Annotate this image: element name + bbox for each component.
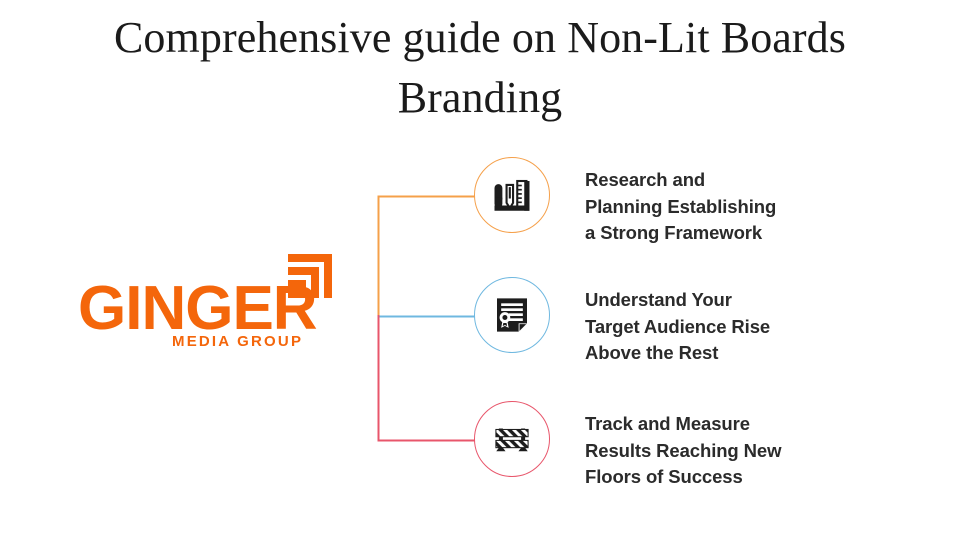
list-item[interactable]: Research and Planning Establishing a Str… (474, 157, 874, 235)
brand-logo: GINGER MEDIA GROUP (78, 250, 338, 360)
item-1-line-2: Planning Establishing (585, 196, 776, 217)
list-item-label: Research and Planning Establishing a Str… (585, 167, 875, 247)
certificate-document-icon (474, 277, 550, 353)
list-item[interactable]: Track and Measure Results Reaching New F… (474, 401, 874, 479)
road-barricade-icon (474, 401, 550, 477)
item-1-line-1: Research and (585, 169, 705, 190)
item-3-line-1: Track and Measure (585, 413, 750, 434)
title-line-1: Comprehensive guide on Non-Lit Boards (0, 8, 960, 68)
item-2-line-2: Target Audience Rise (585, 316, 770, 337)
list-item-label: Track and Measure Results Reaching New F… (585, 411, 875, 491)
stationery-tools-icon (474, 157, 550, 233)
logo-tagline: MEDIA GROUP (172, 334, 303, 350)
item-3-line-2: Results Reaching New (585, 440, 781, 461)
page-title: Comprehensive guide on Non-Lit Boards Br… (0, 8, 960, 128)
list-item[interactable]: Understand Your Target Audience Rise Abo… (474, 277, 874, 355)
title-line-2: Branding (0, 68, 960, 128)
logo-wordmark: GINGER (78, 278, 317, 340)
item-2-line-1: Understand Your (585, 289, 732, 310)
item-1-line-3: a Strong Framework (585, 222, 762, 243)
item-2-line-3: Above the Rest (585, 342, 718, 363)
list-item-label: Understand Your Target Audience Rise Abo… (585, 287, 875, 367)
item-3-line-3: Floors of Success (585, 466, 743, 487)
slide-canvas: Comprehensive guide on Non-Lit Boards Br… (0, 0, 960, 540)
